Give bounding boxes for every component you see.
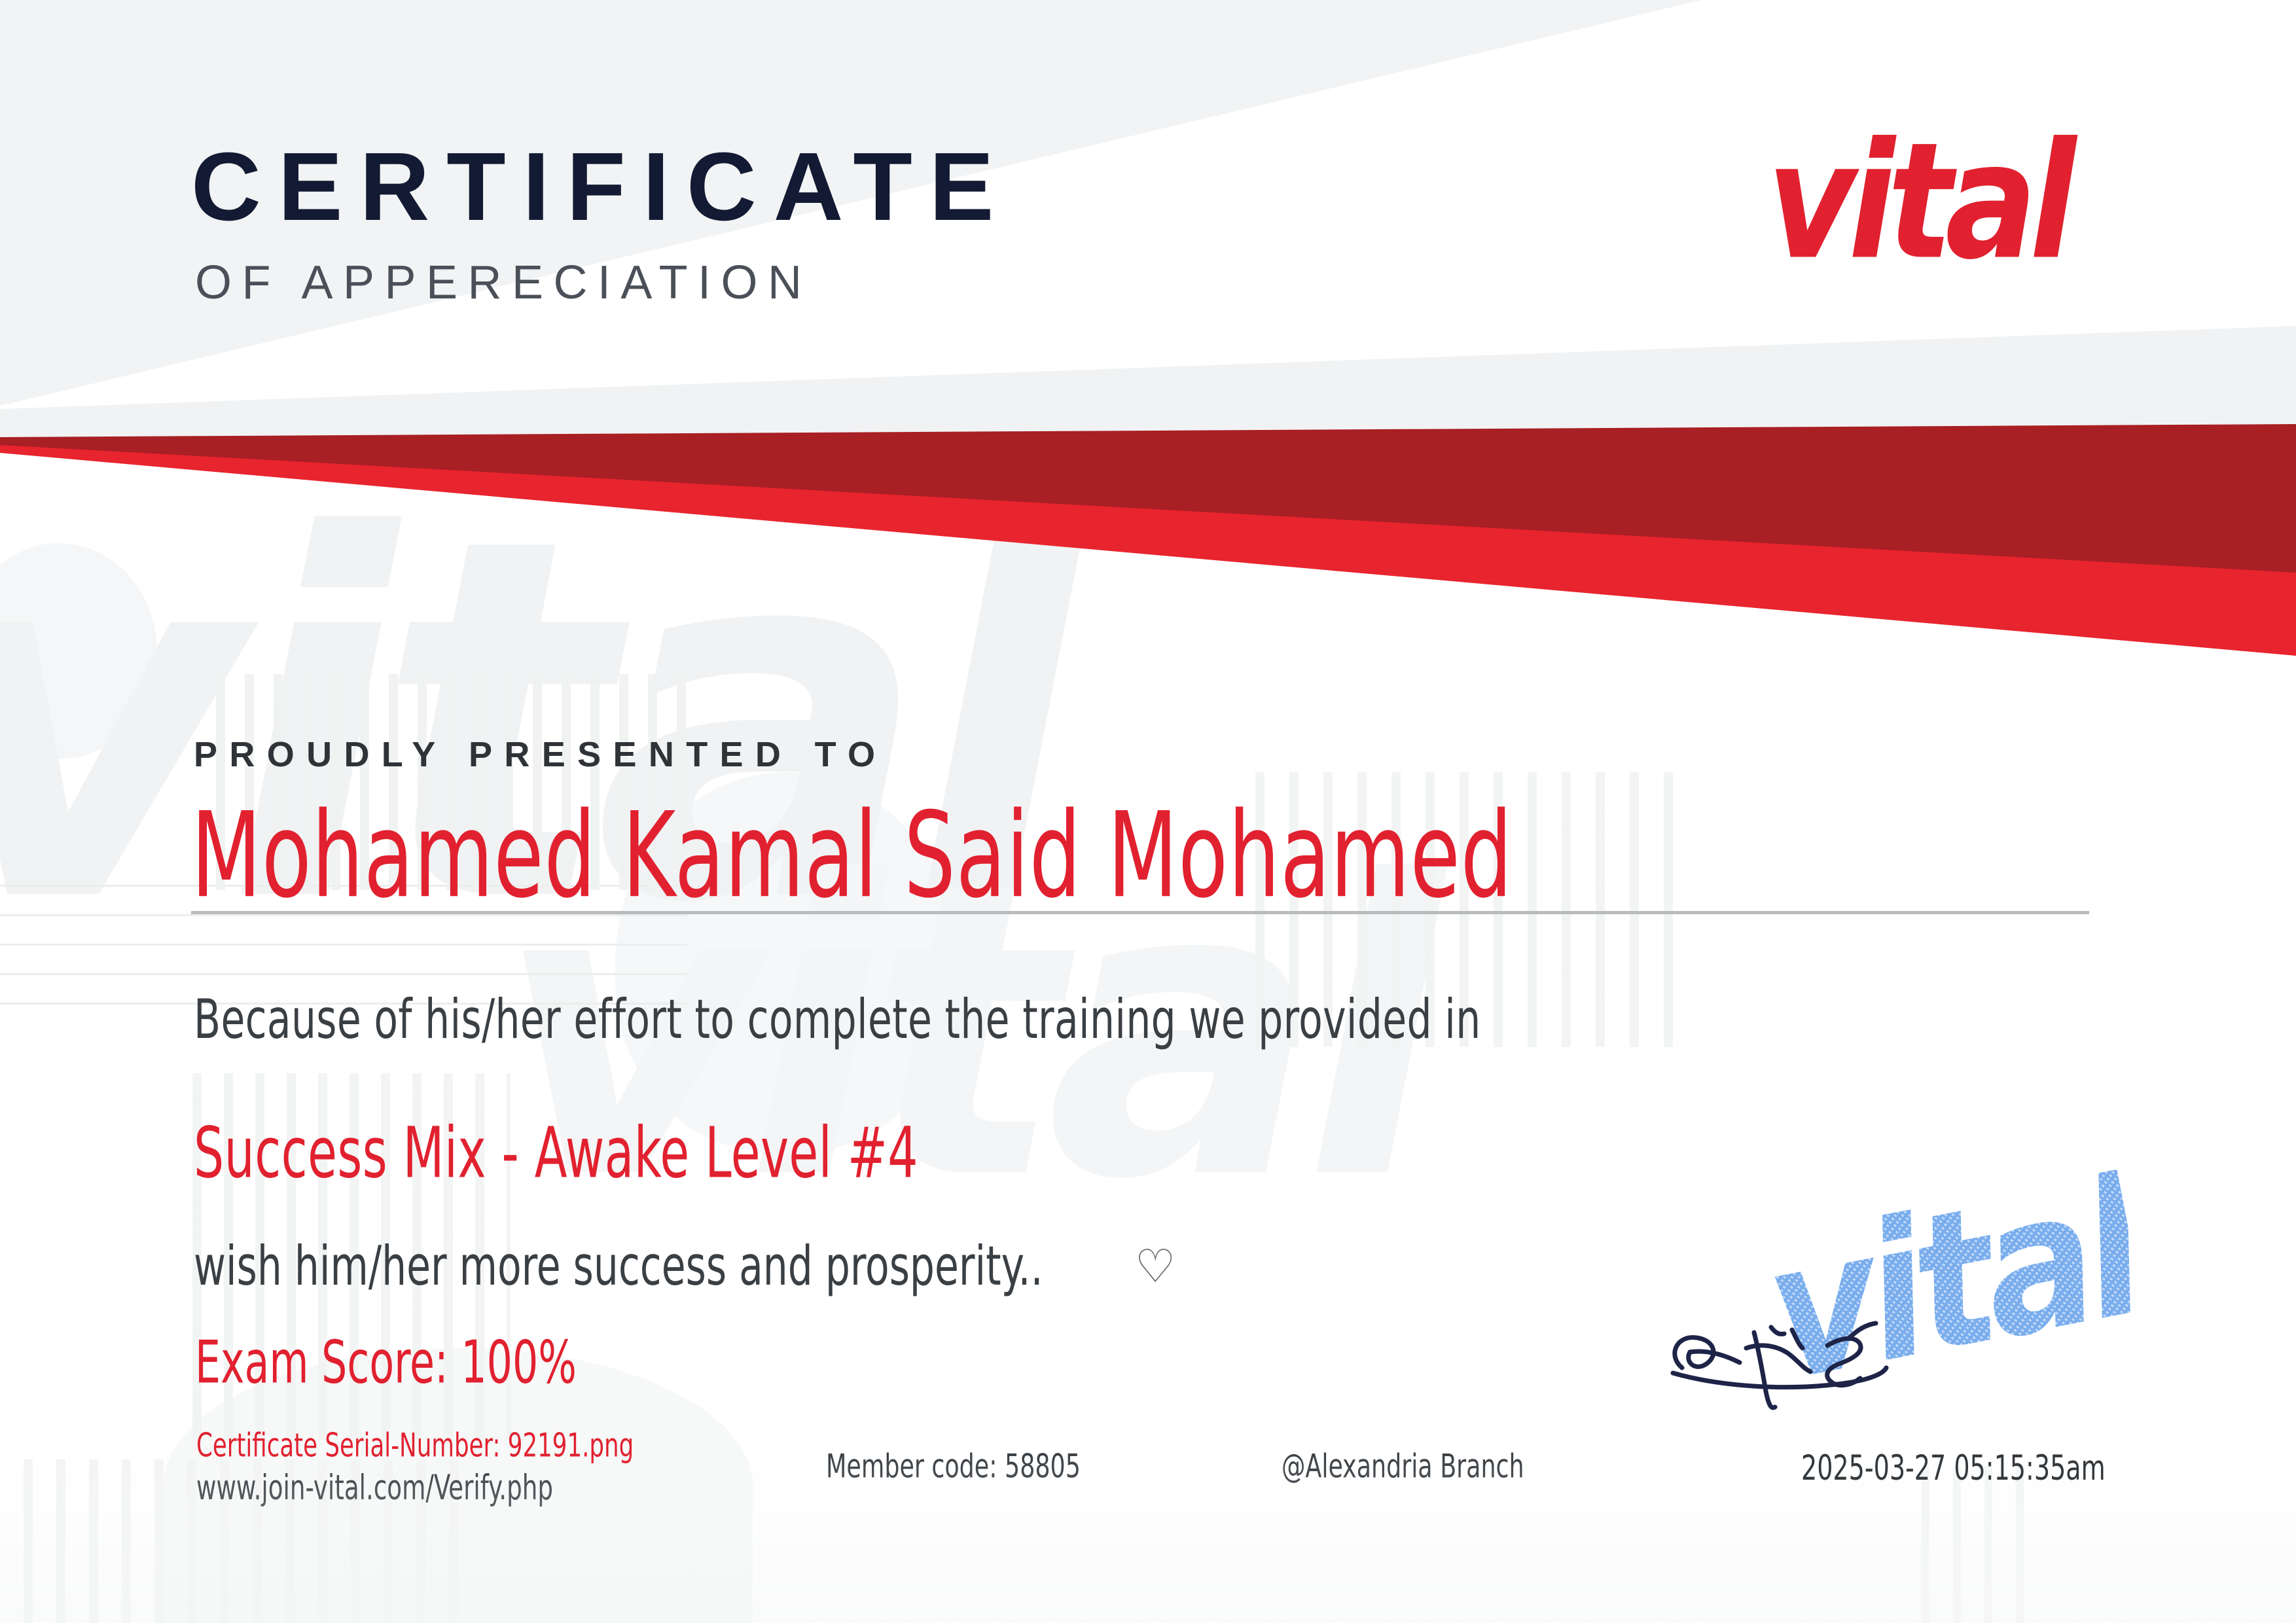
signature-icon <box>1656 1270 1996 1414</box>
recipient-name-rule <box>191 911 2089 914</box>
wish-line-row: wish him/her more success and prosperity… <box>194 1238 1176 1294</box>
exam-score: Exam Score: 100% <box>195 1329 577 1397</box>
reason-line: Because of his/her effort to complete th… <box>194 988 1481 1051</box>
presented-to-label: PROUDLY PRESENTED TO <box>194 734 887 775</box>
course-title: Success Mix - Awake Level #4 <box>194 1113 918 1194</box>
wish-line: wish him/her more success and prosperity… <box>194 1235 1043 1298</box>
certificate-serial-number: Certificate Serial-Number: 92191.png <box>196 1427 634 1465</box>
certificate-page: vital vital CERTIFICATE OF APPERECIATION… <box>0 0 2296 1623</box>
branch-name: @Alexandria Branch <box>1282 1448 1524 1486</box>
recipient-name: Mohamed Kamal Said Mohamed <box>191 797 1513 915</box>
member-code: Member code: 58805 <box>826 1448 1081 1486</box>
issue-timestamp: 2025-03-27 05:15:35am <box>1801 1448 2106 1488</box>
verify-url[interactable]: www.join-vital.com/Verify.php <box>196 1467 553 1508</box>
heart-icon: ♡ <box>1135 1243 1176 1289</box>
approval-stamp-group: vital <box>1715 1198 2134 1459</box>
